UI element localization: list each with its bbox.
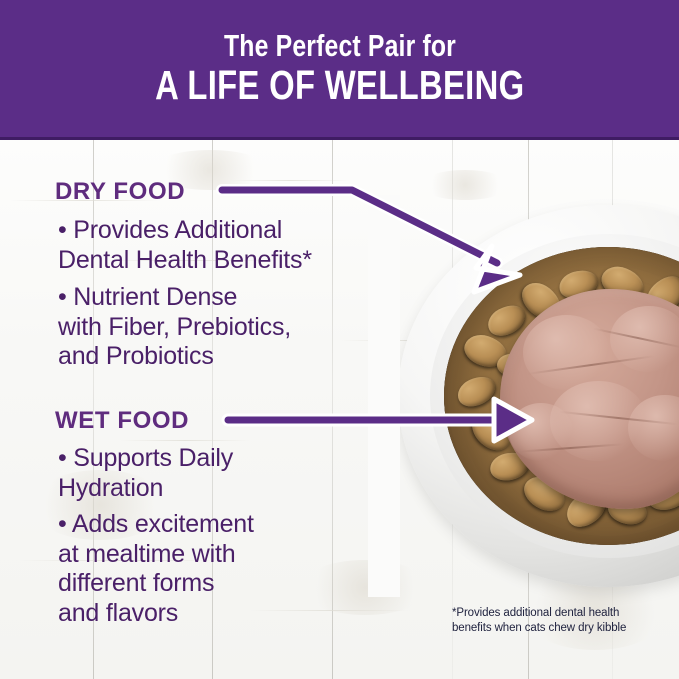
dry-food-bullet-2: • Nutrient Dense with Fiber, Prebiotics,… <box>58 283 291 372</box>
dry-food-bullet-1: • Provides Additional Dental Health Bene… <box>58 216 312 275</box>
bowl-interior <box>444 247 679 545</box>
infographic-canvas: The Perfect Pair for A LIFE OF WELLBEING… <box>0 0 679 679</box>
cat-food-bowl-photo <box>398 205 679 587</box>
section-title-wet-food: WET FOOD <box>55 407 189 435</box>
section-title-dry-food: DRY FOOD <box>55 178 185 206</box>
header-banner: The Perfect Pair for A LIFE OF WELLBEING <box>0 0 679 140</box>
header-line-1: The Perfect Pair for <box>223 30 455 63</box>
bowl-left-mask <box>368 195 400 597</box>
footnote-text: *Provides additional dental health benef… <box>452 606 626 636</box>
wet-food-bullet-1: • Supports Daily Hydration <box>58 444 233 503</box>
header-title: A LIFE OF WELLBEING <box>155 64 524 107</box>
wet-food-bullet-2: • Adds excitement at mealtime with diffe… <box>58 510 254 628</box>
